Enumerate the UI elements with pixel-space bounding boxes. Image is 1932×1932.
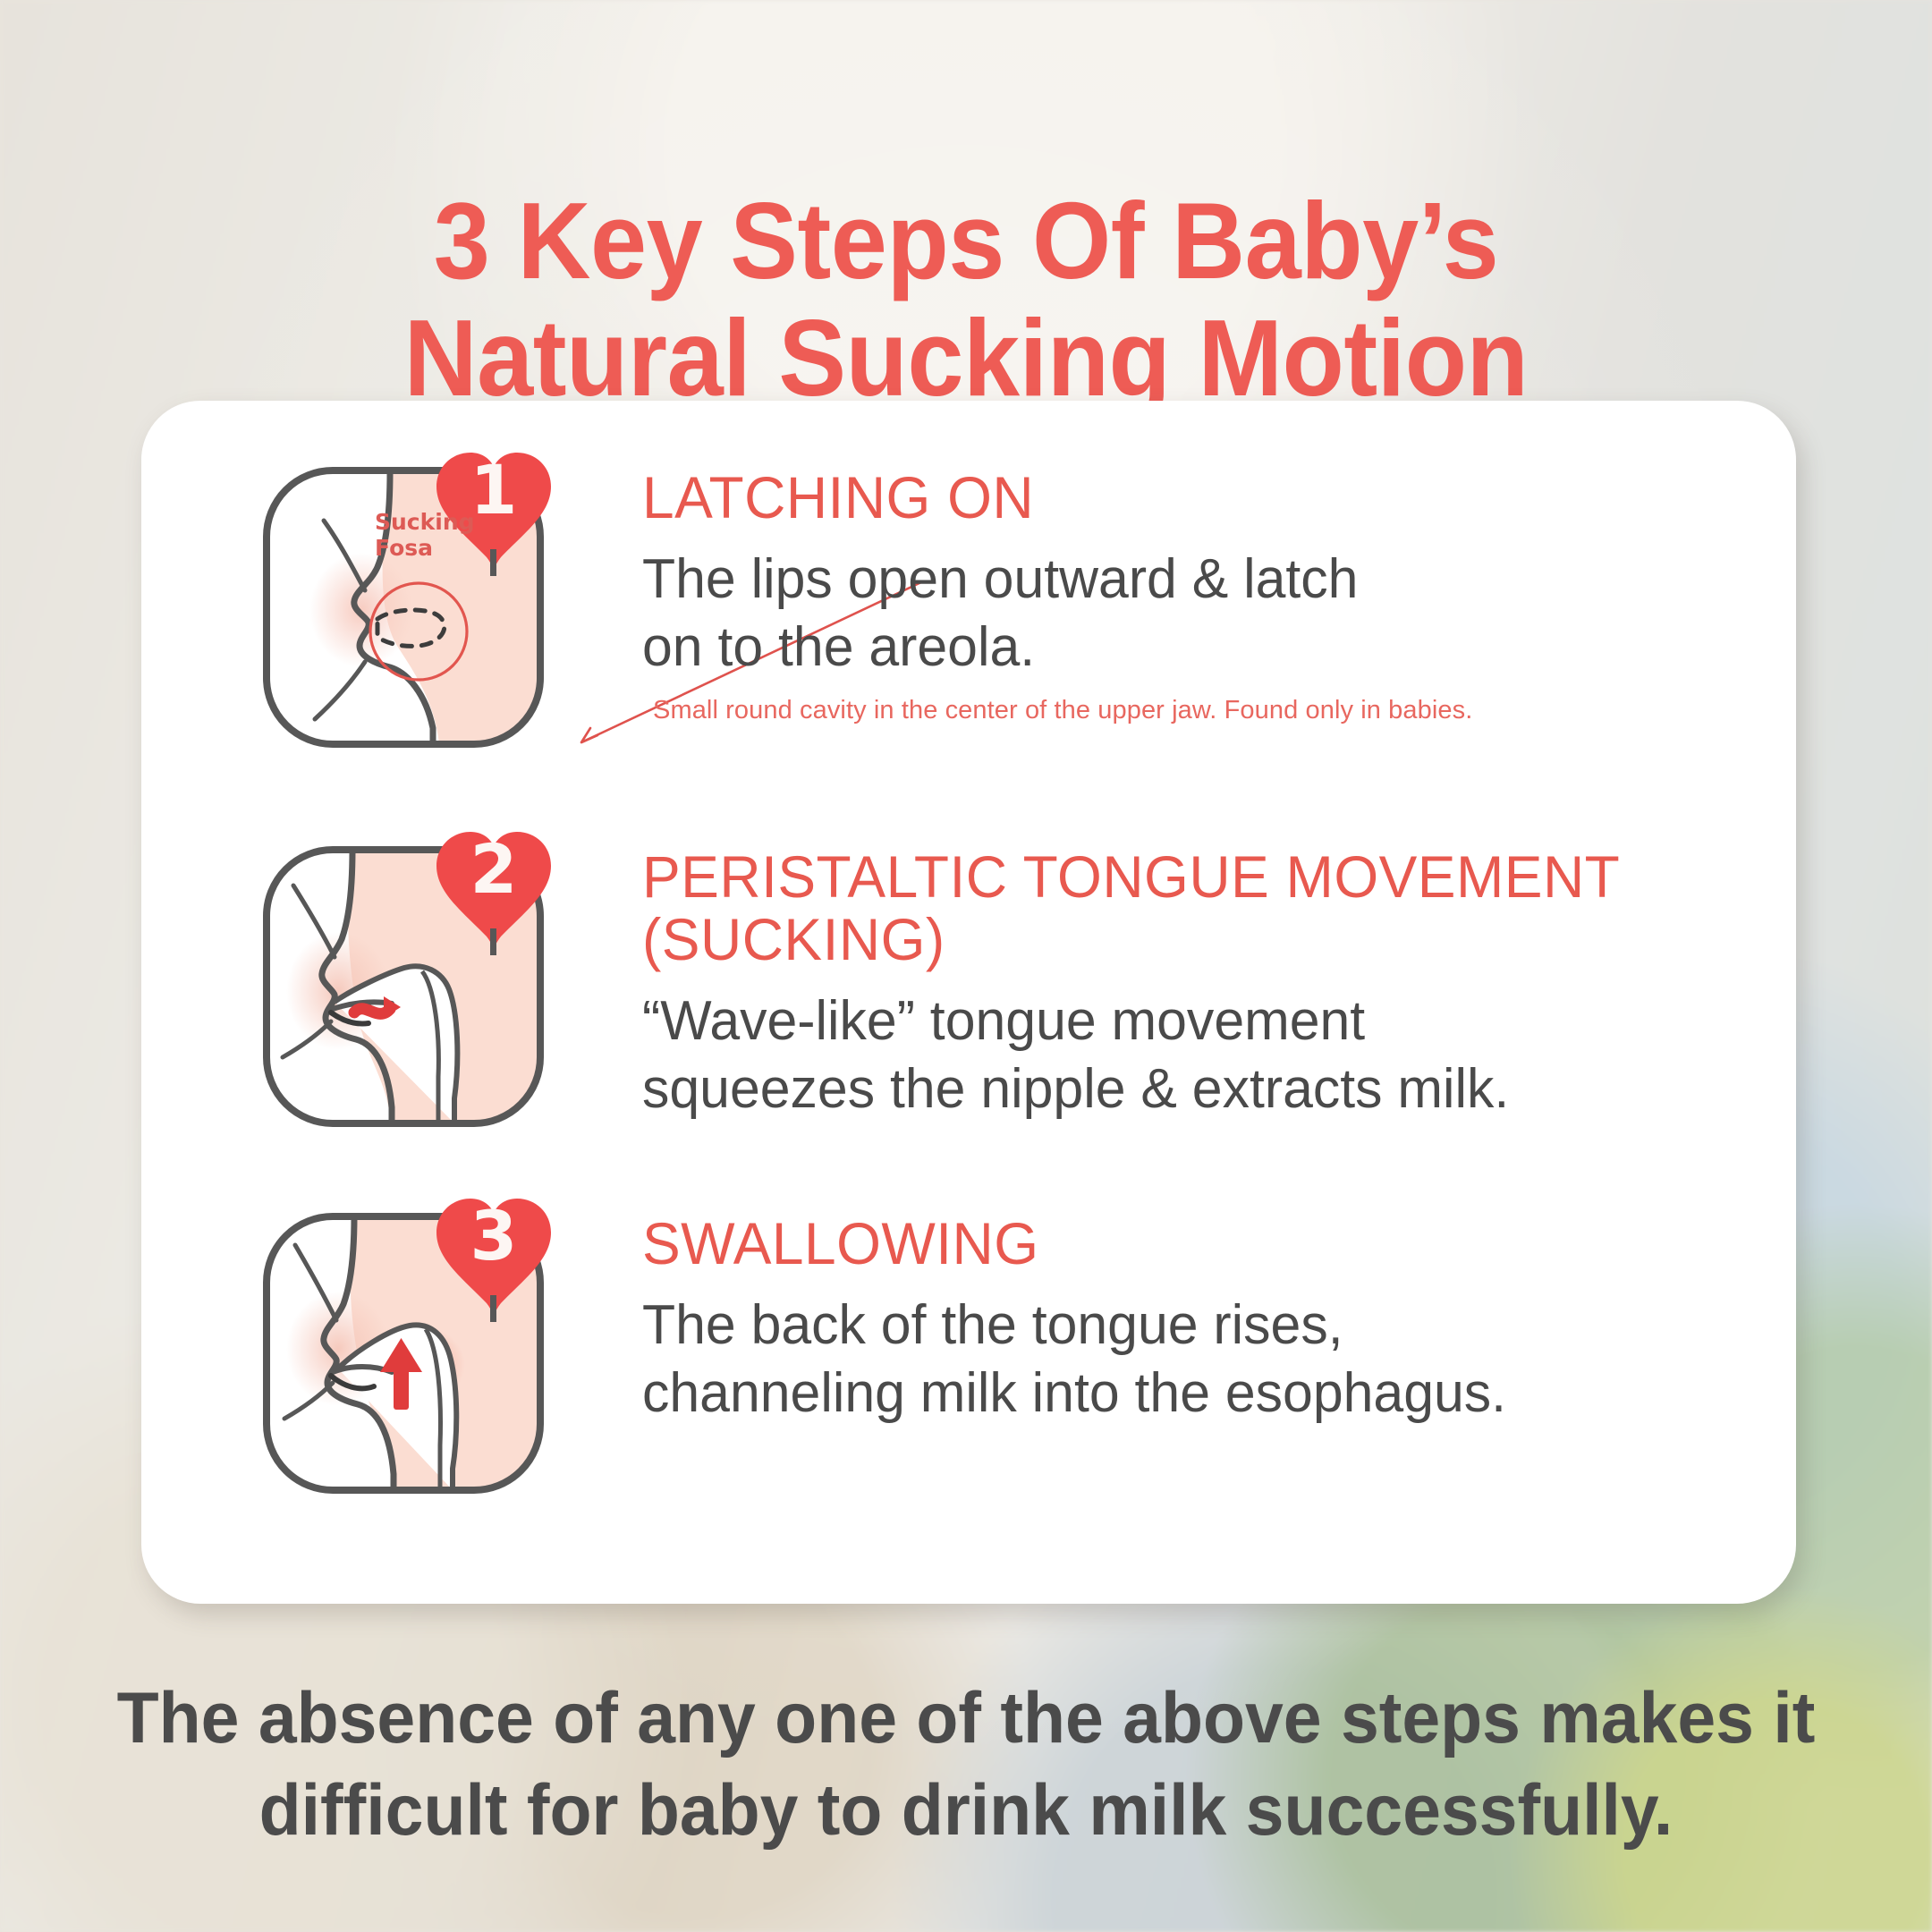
step-number-2: 2 (428, 835, 560, 903)
peristaltic-tongue-movement-diagram: 2 (256, 839, 551, 1134)
footer-statement: The absence of any one of the above step… (48, 1673, 1884, 1857)
step-heading-1: LATCHING ON (642, 467, 1718, 530)
step-text-3: SWALLOWING The back of the tongue rises,… (642, 1213, 1751, 1427)
step-heading-2: PERISTALTIC TONGUE MOVEMENT (SUCKING) (642, 846, 1718, 971)
swallowing-diagram: 3 (256, 1206, 551, 1501)
latching-on-diagram: 1 Sucking Fosa (256, 460, 551, 755)
step-row-1: 1 Sucking Fosa LATCHING ON The lips open… (141, 435, 1796, 810)
step-number-heart-3: 3 (428, 1190, 560, 1322)
step-body-3: The back of the tongue rises, channeling… (642, 1292, 1729, 1427)
step-number-3: 3 (428, 1202, 560, 1270)
step-number-heart-2: 2 (428, 823, 560, 955)
step-text-2: PERISTALTIC TONGUE MOVEMENT (SUCKING) “W… (642, 846, 1751, 1123)
step-row-3: 3 SWALLOWING The back of the tongue rise… (141, 1181, 1796, 1556)
step-heading-3: SWALLOWING (642, 1213, 1718, 1275)
step-body-1: The lips open outward & latch on to the … (642, 546, 1729, 681)
step-note-1: Small round cavity in the center of the … (653, 695, 1762, 726)
page-title: 3 Key Steps Of Baby’s Natural Sucking Mo… (68, 182, 1865, 419)
steps-card: 1 Sucking Fosa LATCHING ON The lips open… (141, 401, 1796, 1604)
sucking-fosa-label: Sucking Fosa (375, 509, 509, 561)
step-text-1: LATCHING ON The lips open outward & latc… (642, 467, 1751, 726)
step-row-2: 2 PERISTALTIC TONGUE MOVEMENT (SUCKING) … (141, 814, 1796, 1190)
step-body-2: “Wave-like” tongue movement squeezes the… (642, 987, 1729, 1123)
